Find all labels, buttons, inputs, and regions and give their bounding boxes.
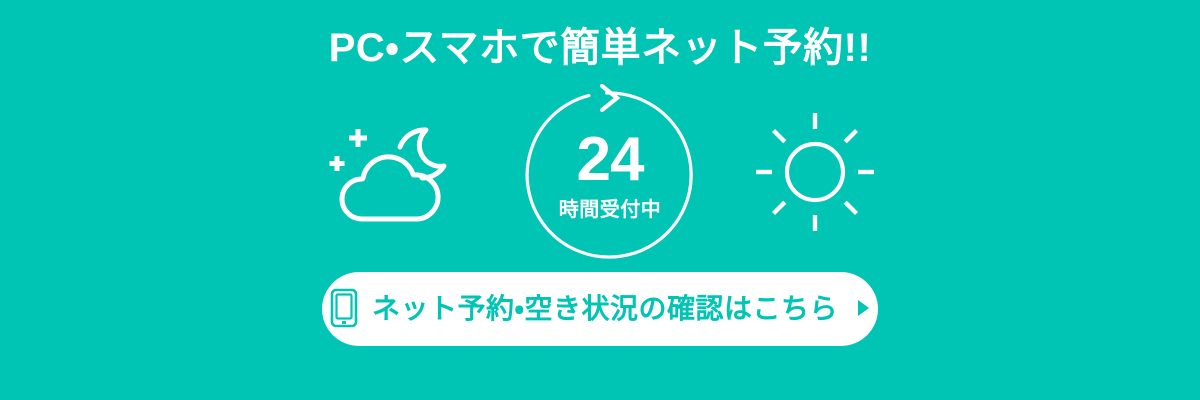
sun-daytime-icon bbox=[750, 107, 880, 242]
cta-row: ネット予約・空き状況の確認はこちら bbox=[0, 272, 1200, 346]
net-reservation-banner: PC・スマホで簡単ネット予約!! bbox=[0, 0, 1200, 400]
moon-cloud-night-icon bbox=[320, 107, 470, 242]
icon-row: 24 時間受付中 bbox=[320, 84, 880, 264]
smartphone-icon bbox=[330, 288, 358, 331]
triangle-right-icon bbox=[856, 299, 870, 320]
page-title: PC・スマホで簡単ネット予約!! bbox=[329, 26, 872, 70]
cta-button-label: ネット予約・空き状況の確認はこちら bbox=[372, 295, 838, 323]
circular-arrow-icon bbox=[520, 84, 700, 264]
24-hour-badge: 24 時間受付中 bbox=[520, 84, 700, 264]
net-reservation-button[interactable]: ネット予約・空き状況の確認はこちら bbox=[322, 272, 878, 346]
